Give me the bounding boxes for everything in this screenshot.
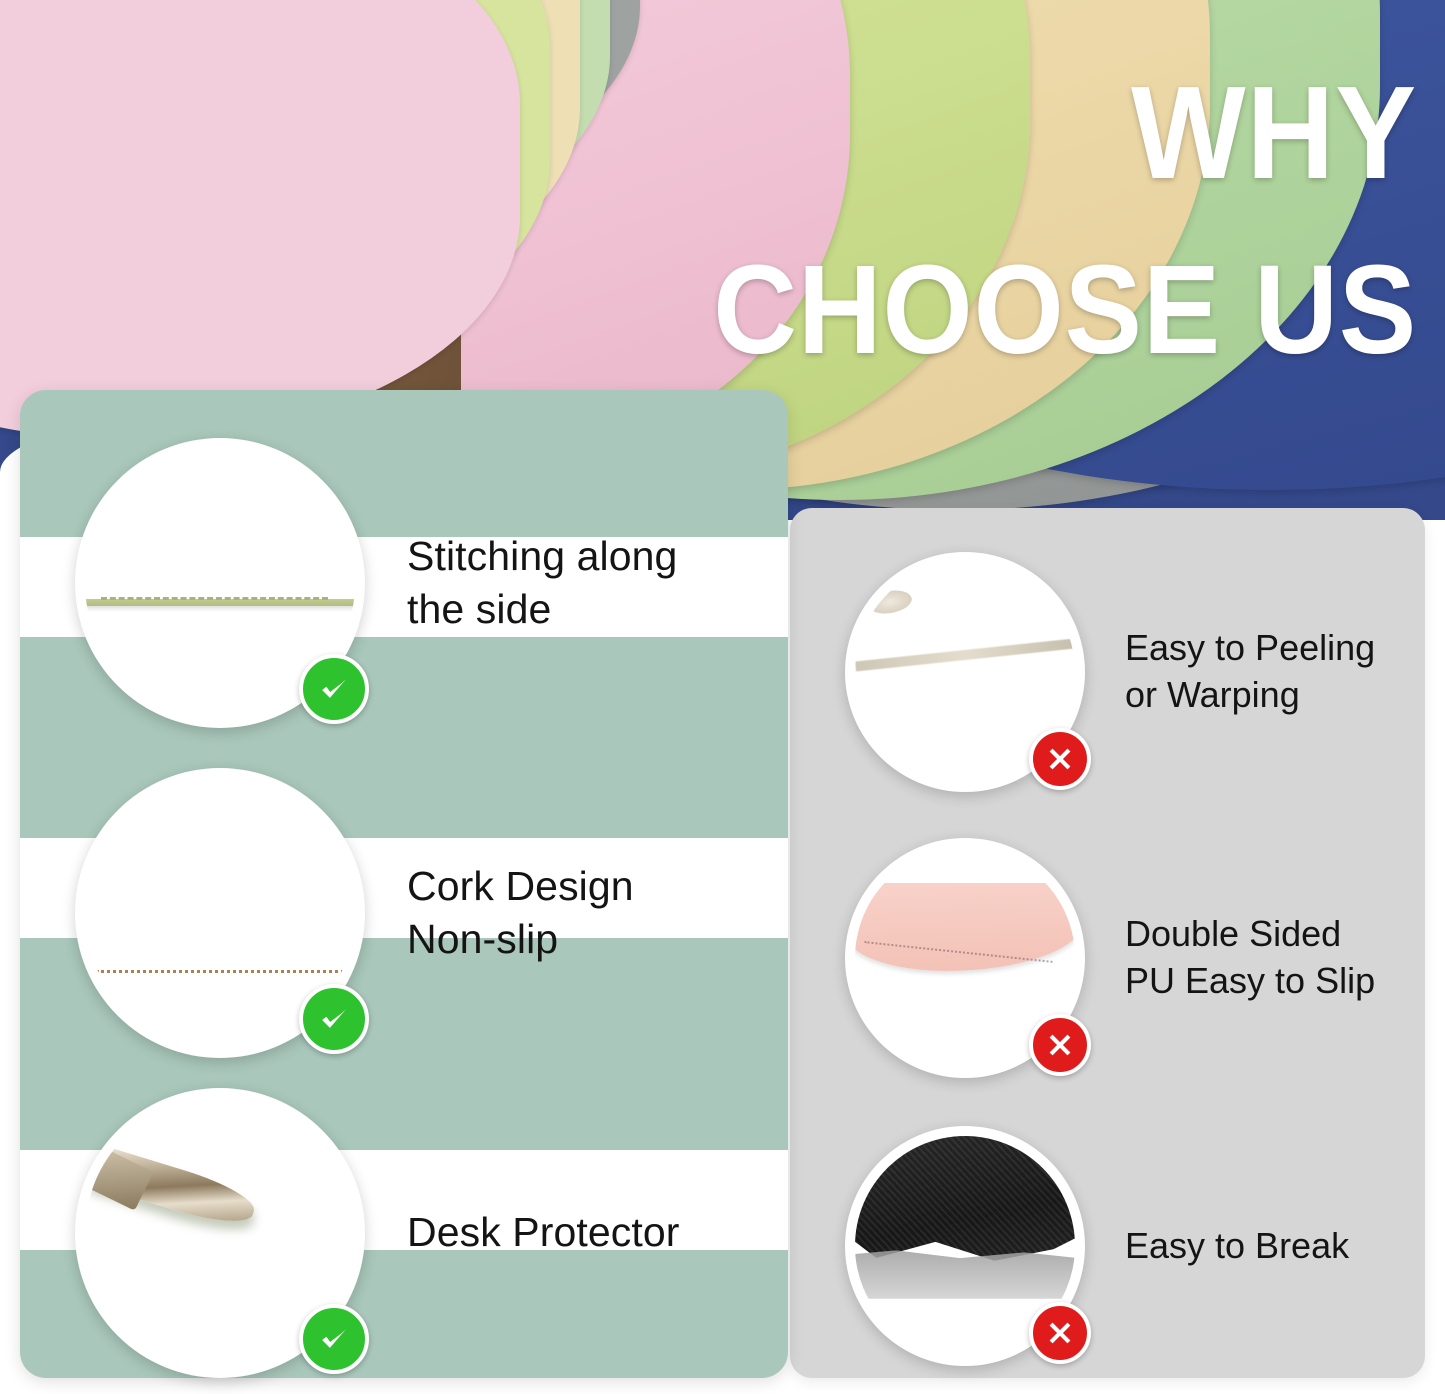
pros-item-label: Cork Design Non-slip (407, 860, 634, 967)
cons-item-label: Easy to Break (1125, 1223, 1349, 1270)
title-line-2: CHOOSE US (713, 251, 1417, 368)
check-icon (299, 654, 369, 724)
cross-icon (1029, 1302, 1091, 1364)
pros-image-bubble (75, 438, 365, 728)
pros-image-bubble (75, 1088, 365, 1378)
page-title: WHY CHOOSE US (652, 72, 1417, 368)
check-icon (299, 1304, 369, 1374)
cons-item-label: Double Sided PU Easy to Slip (1125, 911, 1375, 1005)
check-icon (299, 984, 369, 1054)
cons-image-bubble (845, 552, 1085, 792)
pros-item-row: Desk Protector (75, 1088, 680, 1378)
cons-item-label: Easy to Peeling or Warping (1125, 625, 1375, 719)
pros-image-bubble (75, 768, 365, 1058)
pros-item-row: Stitching along the side (75, 438, 677, 728)
infographic-canvas: WHY CHOOSE US Stitching along the side (0, 0, 1445, 1394)
cons-item-row: Easy to Peeling or Warping (845, 552, 1375, 792)
pros-item-label: Stitching along the side (407, 530, 677, 637)
cons-image-bubble (845, 838, 1085, 1078)
cross-icon (1029, 1014, 1091, 1076)
cons-image-bubble (845, 1126, 1085, 1366)
cons-item-row: Double Sided PU Easy to Slip (845, 838, 1375, 1078)
cons-item-row: Easy to Break (845, 1126, 1349, 1366)
pros-item-row: Cork Design Non-slip (75, 768, 634, 1058)
title-line-1: WHY (713, 72, 1417, 195)
cross-icon (1029, 728, 1091, 790)
pros-item-label: Desk Protector (407, 1206, 680, 1259)
